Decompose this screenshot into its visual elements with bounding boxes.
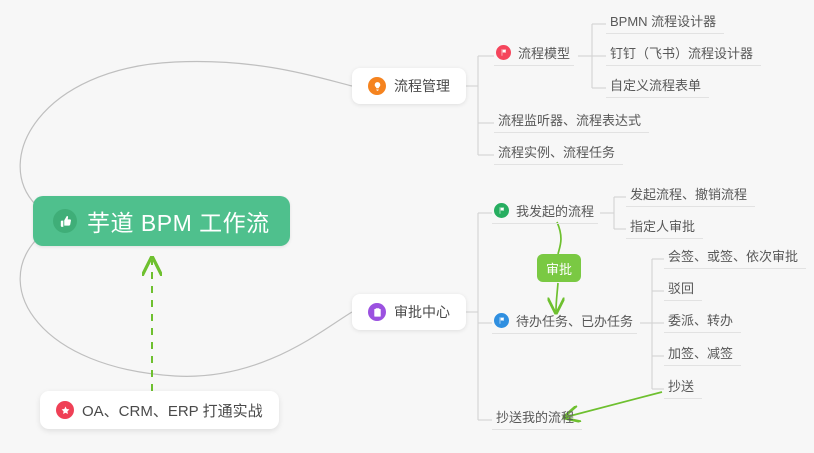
leaf-node-assigned-approval[interactable]: 指定人审批 bbox=[626, 216, 703, 239]
leaf-node-add-remove-sign[interactable]: 加签、减签 bbox=[664, 343, 741, 366]
flag-icon bbox=[494, 203, 509, 218]
leaf-node-process-listener[interactable]: 流程监听器、流程表达式 bbox=[494, 110, 649, 133]
topic-label-my-processes: 我发起的流程 bbox=[516, 201, 594, 220]
leaf-node-delegate-transfer[interactable]: 委派、转办 bbox=[664, 310, 741, 333]
leaf-label: 流程实例、流程任务 bbox=[498, 142, 615, 161]
topic-node-process-model[interactable]: 流程模型 bbox=[494, 42, 574, 66]
branch-node-process-management[interactable]: 流程管理 bbox=[352, 68, 466, 104]
branch-label-approval-center: 审批中心 bbox=[394, 302, 450, 322]
leaf-label: BPMN 流程设计器 bbox=[610, 11, 716, 30]
leaf-node-start-cancel-process[interactable]: 发起流程、撤销流程 bbox=[626, 184, 755, 207]
leaf-label: 抄送 bbox=[668, 376, 694, 395]
leaf-label: 自定义流程表单 bbox=[610, 75, 701, 94]
leaf-label: 委派、转办 bbox=[668, 310, 733, 329]
leaf-node-cc-to-me[interactable]: 抄送我的流程 bbox=[492, 407, 582, 430]
connector-tag-bottom-arrow bbox=[556, 283, 558, 311]
leaf-label: 会签、或签、依次审批 bbox=[668, 246, 798, 265]
branch-label-process-management: 流程管理 bbox=[394, 76, 450, 96]
topic-label-todo-done-tasks: 待办任务、已办任务 bbox=[516, 311, 633, 330]
leaf-node-bpmn-designer[interactable]: BPMN 流程设计器 bbox=[606, 11, 724, 34]
leaf-label: 钉钉（飞书）流程设计器 bbox=[610, 43, 753, 62]
clipboard-icon bbox=[368, 303, 386, 321]
thumbs-up-icon bbox=[53, 209, 77, 233]
topic-node-todo-done-tasks[interactable]: 待办任务、已办任务 bbox=[492, 310, 637, 334]
leaf-label: 发起流程、撤销流程 bbox=[630, 184, 747, 203]
topic-node-my-processes[interactable]: 我发起的流程 bbox=[492, 200, 598, 224]
topic-label-process-model: 流程模型 bbox=[518, 43, 570, 62]
leaf-node-cc[interactable]: 抄送 bbox=[664, 376, 702, 399]
tag-node-approval[interactable]: 审批 bbox=[537, 254, 581, 282]
connector-root-to-approval-center bbox=[20, 240, 352, 376]
root-node[interactable]: 芋道 BPM 工作流 bbox=[33, 196, 290, 246]
flag-icon bbox=[494, 313, 509, 328]
leaf-node-process-instance[interactable]: 流程实例、流程任务 bbox=[494, 142, 623, 165]
flag-icon bbox=[496, 45, 511, 60]
leaf-label: 抄送我的流程 bbox=[496, 407, 574, 426]
connector-root-to-process-management bbox=[20, 61, 352, 205]
leaf-label: 加签、减签 bbox=[668, 343, 733, 362]
star-icon bbox=[56, 401, 74, 419]
card-node-integration[interactable]: OA、CRM、ERP 打通实战 bbox=[40, 391, 279, 429]
tag-label-approval: 审批 bbox=[546, 259, 572, 278]
leaf-label: 驳回 bbox=[668, 278, 694, 297]
leaf-label: 流程监听器、流程表达式 bbox=[498, 110, 641, 129]
mindmap-canvas: 芋道 BPM 工作流 流程管理 流程模型 BPMN 流程设计器 钉钉（飞书）流程… bbox=[0, 0, 814, 453]
leaf-label: 指定人审批 bbox=[630, 216, 695, 235]
card-label-integration: OA、CRM、ERP 打通实战 bbox=[82, 400, 263, 421]
branch-node-approval-center[interactable]: 审批中心 bbox=[352, 294, 466, 330]
connector-tag-top bbox=[557, 222, 561, 254]
lightbulb-icon bbox=[368, 77, 386, 95]
leaf-node-custom-form[interactable]: 自定义流程表单 bbox=[606, 75, 709, 98]
leaf-node-dingtalk-designer[interactable]: 钉钉（飞书）流程设计器 bbox=[606, 43, 761, 66]
leaf-node-countersign[interactable]: 会签、或签、依次审批 bbox=[664, 246, 806, 269]
leaf-node-reject[interactable]: 驳回 bbox=[664, 278, 702, 301]
root-label: 芋道 BPM 工作流 bbox=[87, 204, 270, 238]
